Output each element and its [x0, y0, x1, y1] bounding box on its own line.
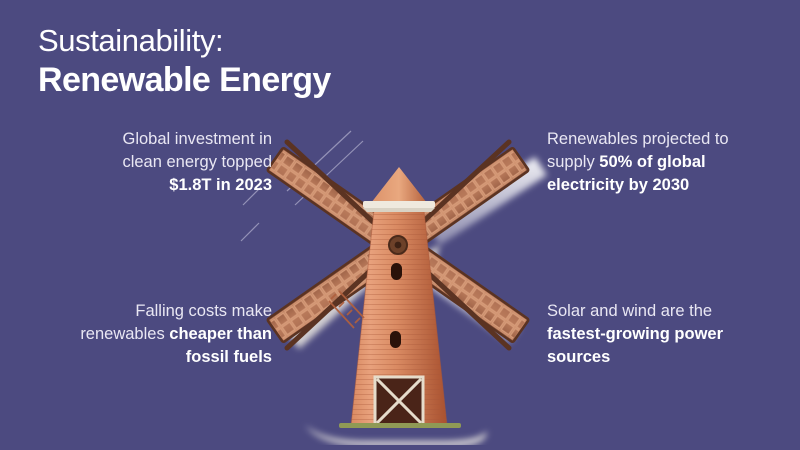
window-upper-icon [391, 263, 402, 280]
roof-cap [363, 167, 435, 212]
callout-br-emphasis: fastest-growing power sources [547, 325, 723, 366]
tower-door [375, 377, 423, 425]
callout-tl-emphasis: $1.8T in 2023 [169, 176, 272, 194]
callout-bottom-right: Solar and wind are the fastest-growing p… [547, 300, 783, 368]
callout-bl-line2: renewables [80, 325, 169, 343]
windmill-hub [389, 236, 407, 254]
callout-top-left: Global investment in clean energy topped… [38, 128, 272, 196]
title-line-1: Sustainability: [38, 22, 458, 60]
callout-br-line1: Solar and wind are the [547, 302, 712, 320]
page-title: Sustainability: Renewable Energy [38, 22, 458, 100]
callout-tl-line1: Global investment in [123, 130, 273, 148]
title-line-2: Renewable Energy [38, 60, 458, 100]
callout-bl-line1: Falling costs make [135, 302, 272, 320]
window-lower-icon [390, 331, 401, 348]
callout-tl-line2: clean energy topped [122, 153, 272, 171]
windmill-illustration [235, 95, 565, 445]
callout-tr-line2: supply [547, 153, 599, 171]
callout-bl-emphasis: cheaper than fossil fuels [169, 325, 272, 366]
ground-strip [339, 423, 461, 428]
callout-tr-line1: Renewables projected to [547, 130, 729, 148]
slide-canvas: Sustainability: Renewable Energy [0, 0, 800, 450]
callout-top-right: Renewables projected to supply 50% of gl… [547, 128, 783, 196]
callout-bottom-left: Falling costs make renewables cheaper th… [38, 300, 272, 368]
